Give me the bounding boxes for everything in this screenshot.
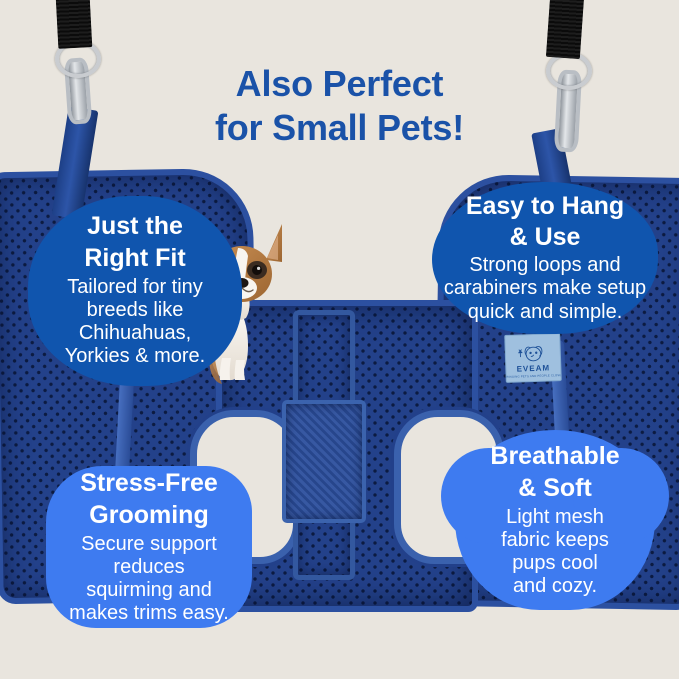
callout-body-line-3: Chihuahuas, <box>79 322 191 345</box>
callout-body-line-2: reduces <box>113 556 184 579</box>
callout-title-line-1: Just the <box>87 212 183 240</box>
callout-body-line-2: carabiners make setup <box>444 277 646 300</box>
callout-just-the-right-fit: Just the Right Fit Tailored for tiny bre… <box>28 196 242 386</box>
brand-patch: EVEAM BRINGING PETS AND PEOPLE CLOSER <box>504 333 562 383</box>
callout-title-line-2: Right Fit <box>84 244 185 272</box>
callout-body-line-2: breeds like <box>87 299 184 322</box>
callout-body-line-4: and cozy. <box>513 575 597 598</box>
brand-tagline: BRINGING PETS AND PEOPLE CLOSER <box>504 374 562 379</box>
callout-title-line-1: Easy to Hang <box>466 192 624 220</box>
callout-title-line-2: & Soft <box>518 474 592 502</box>
callout-body-line-3: squirming and <box>86 579 212 602</box>
callout-body-line-1: Light mesh <box>506 506 604 529</box>
brand-name: EVEAM <box>517 364 551 373</box>
callout-title-line-2: & Use <box>510 223 581 251</box>
dog-face-logo-icon <box>516 343 551 364</box>
callout-body-line-1: Tailored for tiny <box>67 276 203 299</box>
callout-easy-to-hang-and-use: Easy to Hang & Use Strong loops and cara… <box>432 182 658 334</box>
callout-stress-free-grooming: Stress-Free Grooming Secure support redu… <box>46 466 252 628</box>
callout-body-line-1: Strong loops and <box>469 254 620 277</box>
velcro-patch <box>282 400 366 523</box>
callout-title-line-2: Grooming <box>89 501 208 529</box>
callout-body-line-2: fabric keeps <box>501 529 609 552</box>
callout-body-line-4: Yorkies & more. <box>65 345 205 368</box>
callout-body-line-3: quick and simple. <box>468 301 623 324</box>
callout-body-line-1: Secure support <box>81 533 217 556</box>
hanging-strap-right <box>546 0 584 59</box>
callout-body-line-4: makes trims easy. <box>69 602 229 625</box>
callout-breathable-and-soft: Breathable & Soft Light mesh fabric keep… <box>455 430 655 610</box>
callout-title-line-1: Stress-Free <box>80 469 218 497</box>
product-marketing-image: EVEAM BRINGING PETS AND PEOPLE CLOSER <box>0 0 679 679</box>
callout-body-line-3: pups cool <box>512 552 598 575</box>
hanging-strap-left <box>56 0 93 49</box>
callout-title-line-1: Breathable <box>490 442 619 470</box>
